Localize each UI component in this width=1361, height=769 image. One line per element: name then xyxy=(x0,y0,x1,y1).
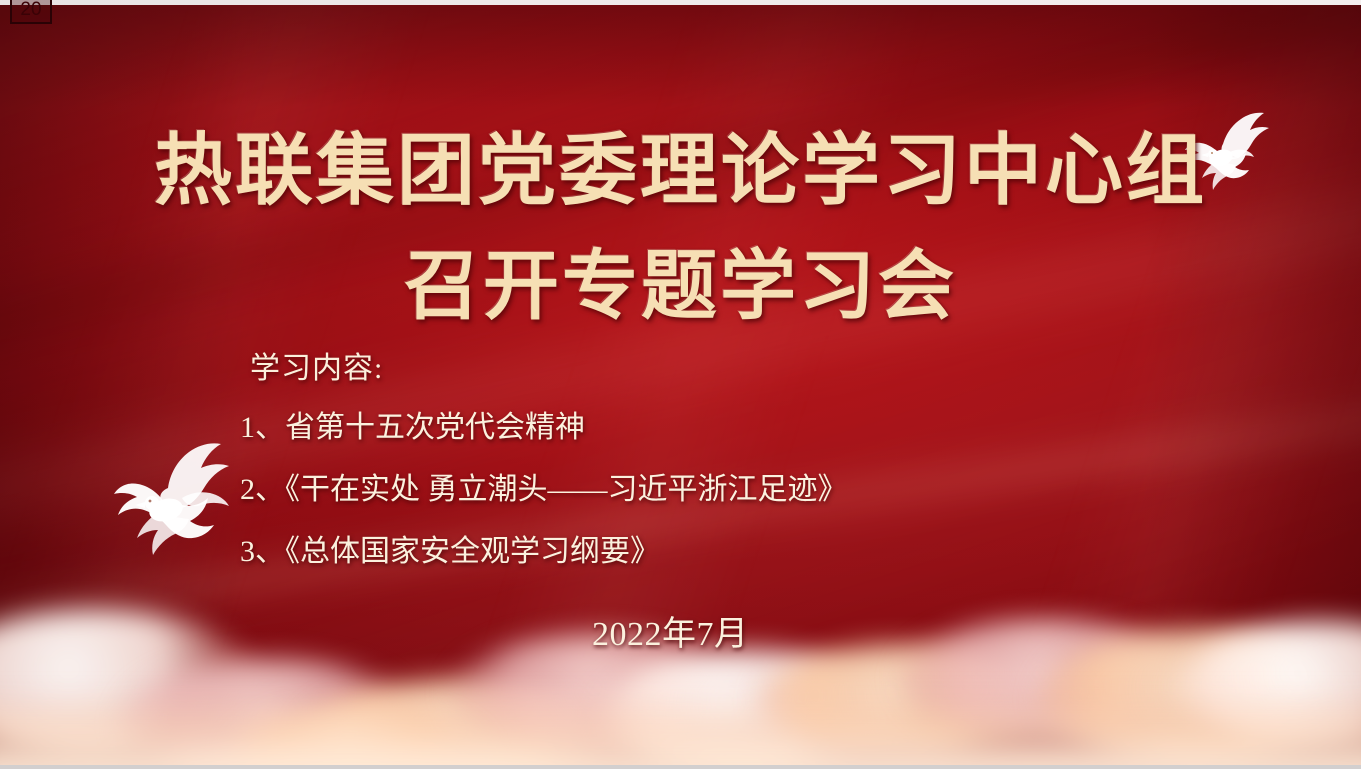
content-list: 1、省第十五次党代会精神 2、《干在实处 勇立潮头——习近平浙江足迹》 3、《总… xyxy=(240,413,848,567)
presentation-slide: 热联集团党委理论学习中心组 召开专题学习会 学习内容: 1、省第十五次党代会精神… xyxy=(0,0,1361,769)
window-top-strip xyxy=(0,0,1361,5)
content-heading: 学习内容: xyxy=(250,343,848,387)
slide-number-badge: 20 xyxy=(10,0,52,24)
list-item: 2、《干在实处 勇立潮头——习近平浙江足迹》 xyxy=(240,475,848,505)
window-bottom-strip xyxy=(0,765,1361,769)
study-content-block: 学习内容: 1、省第十五次党代会精神 2、《干在实处 勇立潮头——习近平浙江足迹… xyxy=(240,343,848,567)
list-item: 3、《总体国家安全观学习纲要》 xyxy=(240,537,848,567)
slide-title-line-2: 召开专题学习会 xyxy=(0,248,1361,324)
slide-title-block: 热联集团党委理论学习中心组 召开专题学习会 xyxy=(0,132,1361,324)
slide-title-line-1: 热联集团党委理论学习中心组 xyxy=(0,132,1361,210)
slide-date: 2022年7月 xyxy=(592,606,749,655)
list-item: 1、省第十五次党代会精神 xyxy=(240,413,848,443)
